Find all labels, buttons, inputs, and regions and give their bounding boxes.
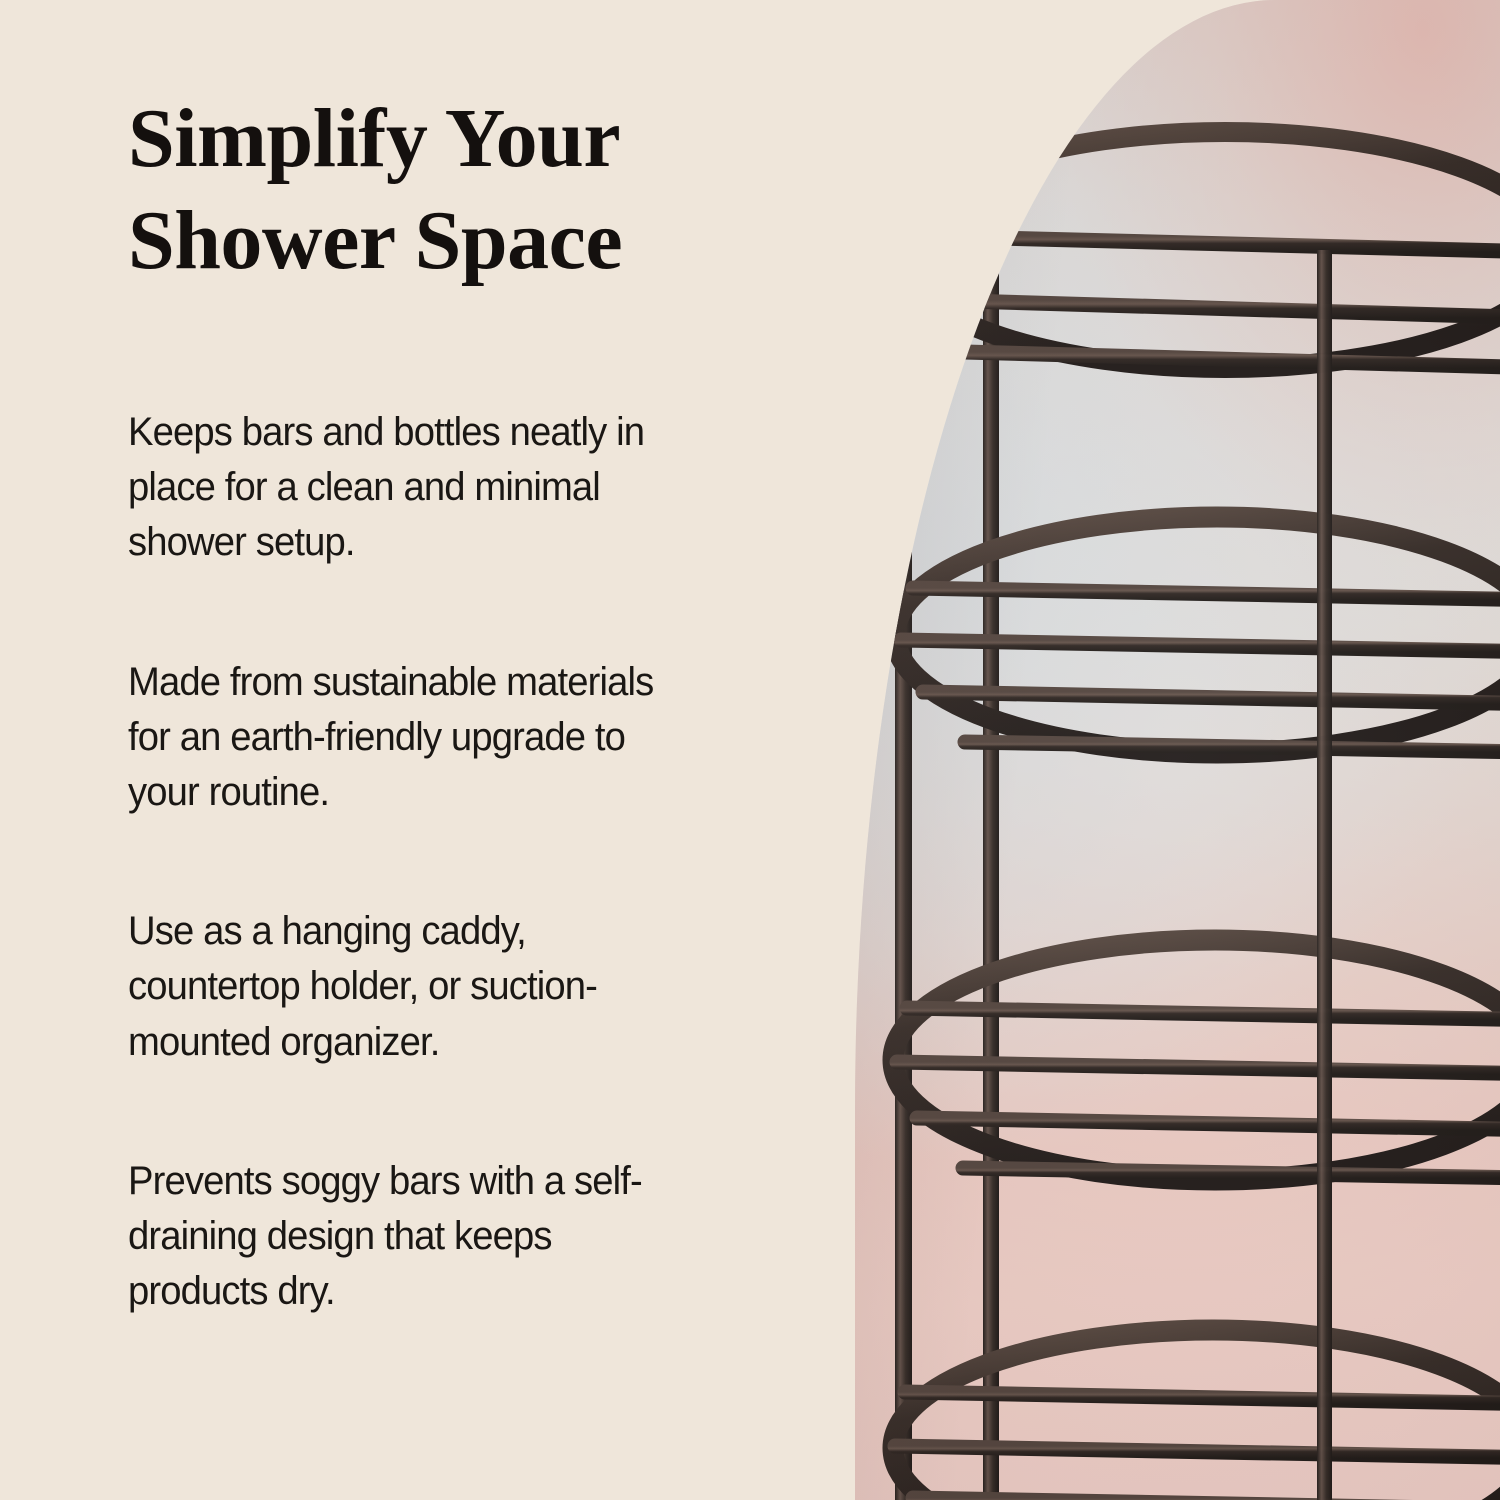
benefit-item-neat-storage: Keeps bars and bottles neatly in place f… [128,405,701,571]
caddy-shelf-tier-2 [895,517,1500,753]
text-column: Simplify Your Shower Space Keeps bars an… [128,0,748,1500]
benefits-list: Keeps bars and bottles neatly in place f… [128,405,728,1319]
product-photo-panel [855,0,1500,1500]
benefit-item-self-draining: Prevents soggy bars with a self-draining… [128,1154,701,1320]
caddy-shelf-tier-3 [893,940,1500,1180]
benefit-item-versatile-mounting: Use as a hanging caddy, countertop holde… [128,904,701,1070]
page-title: Simplify Your Shower Space [128,88,768,293]
shower-caddy-illustration [855,0,1500,1500]
caddy-front-post [1317,250,1332,1500]
infographic-canvas: Simplify Your Shower Space Keeps bars an… [0,0,1500,1500]
benefit-item-sustainable-materials: Made from sustainable materials for an e… [128,655,701,821]
